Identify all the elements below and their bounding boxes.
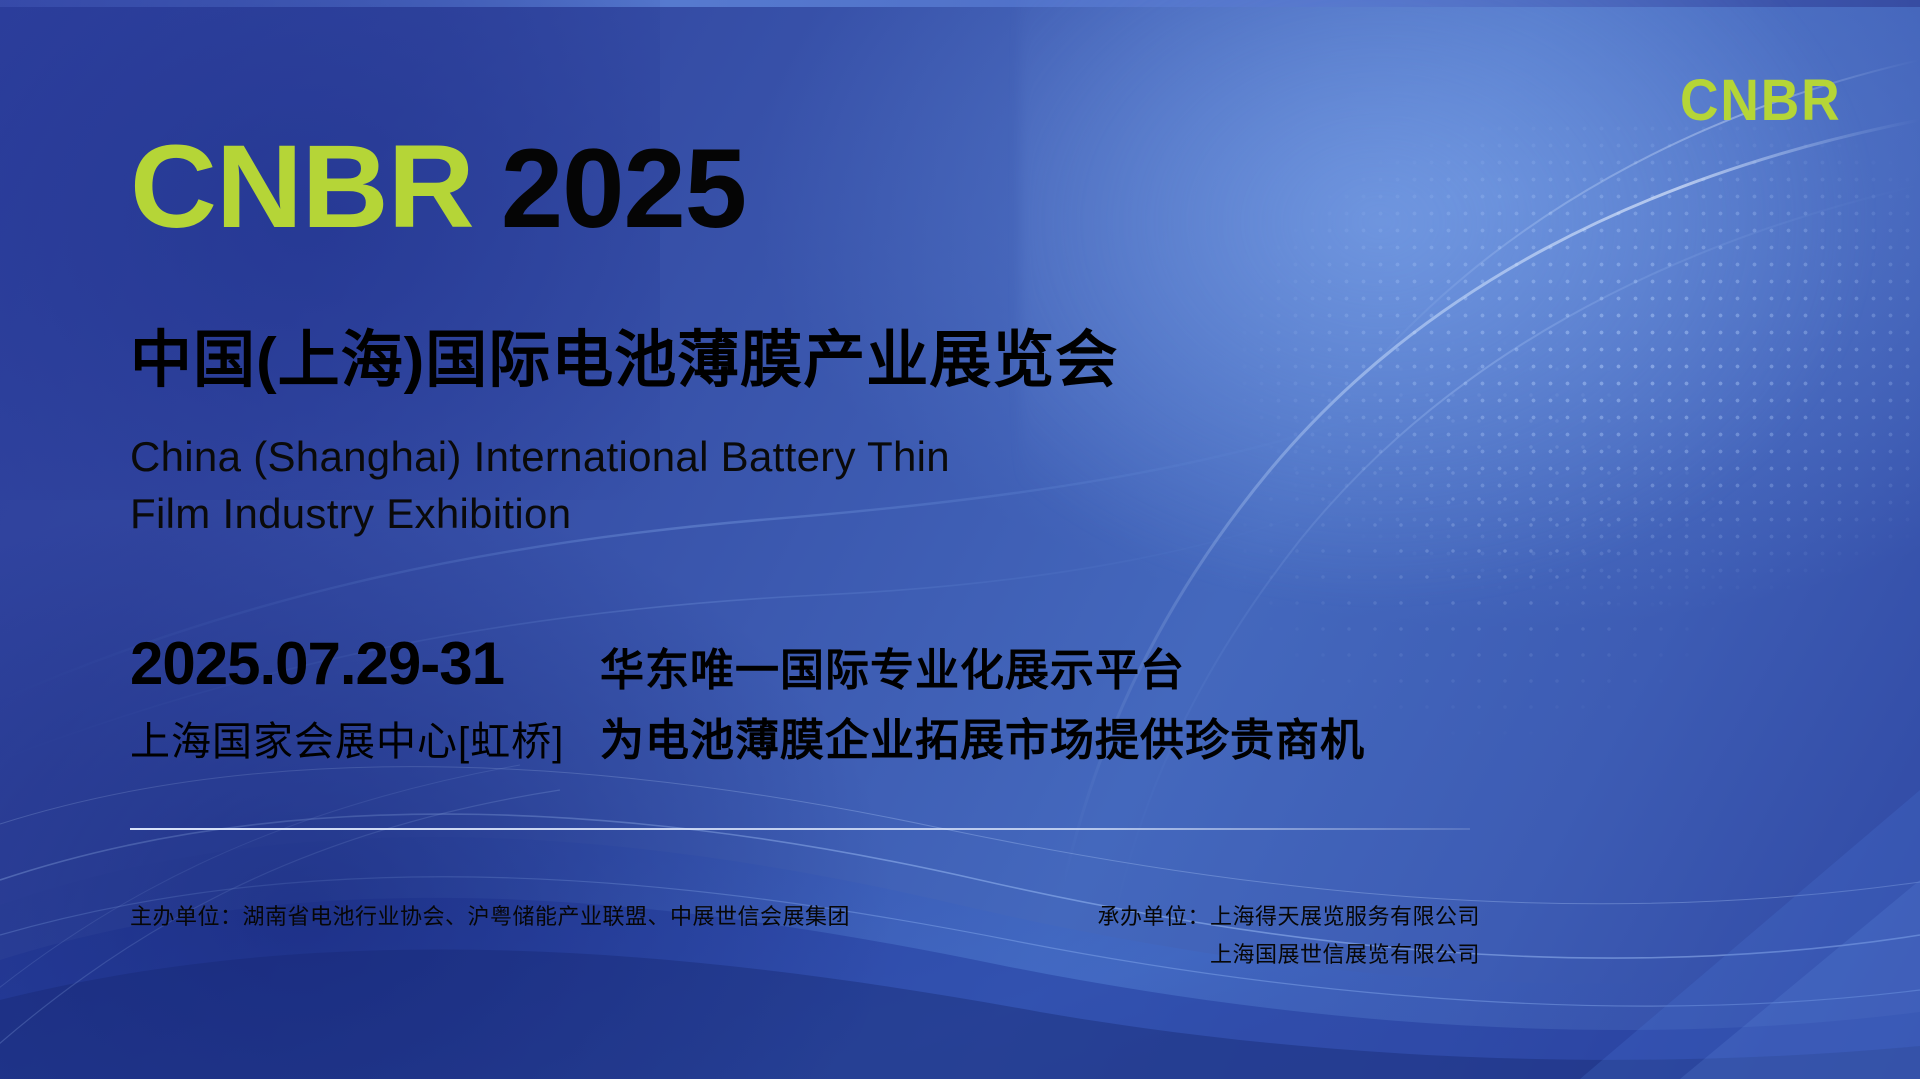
brand-logotype: CNBR — [130, 128, 474, 246]
poster-canvas: CNBR CNBR 2025 中国(上海)国际电池薄膜产业展览会 China (… — [0, 0, 1920, 1079]
edition-year: 2025 — [501, 133, 746, 245]
exhibition-title-english-line2: Film Industry Exhibition — [130, 485, 950, 542]
date-venue-slogan-block: 2025.07.29-31 上海国家会展中心[虹桥] 华东唯一国际专业化展示平台… — [130, 630, 1530, 776]
exhibition-title-english-line1: China (Shanghai) International Battery T… — [130, 428, 950, 485]
main-title-row: CNBR 2025 — [130, 128, 746, 246]
host-organizations: 主办单位：湖南省电池行业协会、沪粤储能产业联盟、中展世信会展集团 — [130, 898, 850, 936]
exhibition-title-english: China (Shanghai) International Battery T… — [130, 428, 950, 542]
date-venue-column: 2025.07.29-31 上海国家会展中心[虹桥] — [130, 630, 600, 772]
footer-organizers: 主办单位：湖南省电池行业协会、沪粤储能产业联盟、中展世信会展集团 承办单位：上海… — [130, 898, 1480, 974]
coorganizer-line-1: 承办单位：上海得天展览服务有限公司 — [1097, 898, 1480, 936]
coorganizer-label: 承办单位： — [1097, 904, 1210, 929]
coorganizer-company-1: 上海得天展览服务有限公司 — [1210, 904, 1480, 929]
event-date: 2025.07.29-31 — [130, 630, 600, 698]
host-orgs: 湖南省电池行业协会、沪粤储能产业联盟、中展世信会展集团 — [243, 904, 851, 929]
poster-content: CNBR 2025 中国(上海)国际电池薄膜产业展览会 China (Shang… — [130, 0, 1790, 1079]
slogan-line-1: 华东唯一国际专业化展示平台 — [600, 636, 1365, 706]
divider-rule — [130, 828, 1470, 830]
exhibition-title-chinese: 中国(上海)国际电池薄膜产业展览会 — [130, 325, 1118, 397]
event-venue: 上海国家会展中心[虹桥] — [130, 712, 600, 772]
slogan-line-2: 为电池薄膜企业拓展市场提供珍贵商机 — [600, 706, 1365, 776]
host-label: 主办单位： — [130, 904, 243, 929]
coorganizer-company-2: 上海国展世信展览有限公司 — [1097, 936, 1480, 974]
slogan-column: 华东唯一国际专业化展示平台 为电池薄膜企业拓展市场提供珍贵商机 — [600, 630, 1365, 776]
coorganizer-organizations: 承办单位：上海得天展览服务有限公司 上海国展世信展览有限公司 — [1097, 898, 1480, 974]
